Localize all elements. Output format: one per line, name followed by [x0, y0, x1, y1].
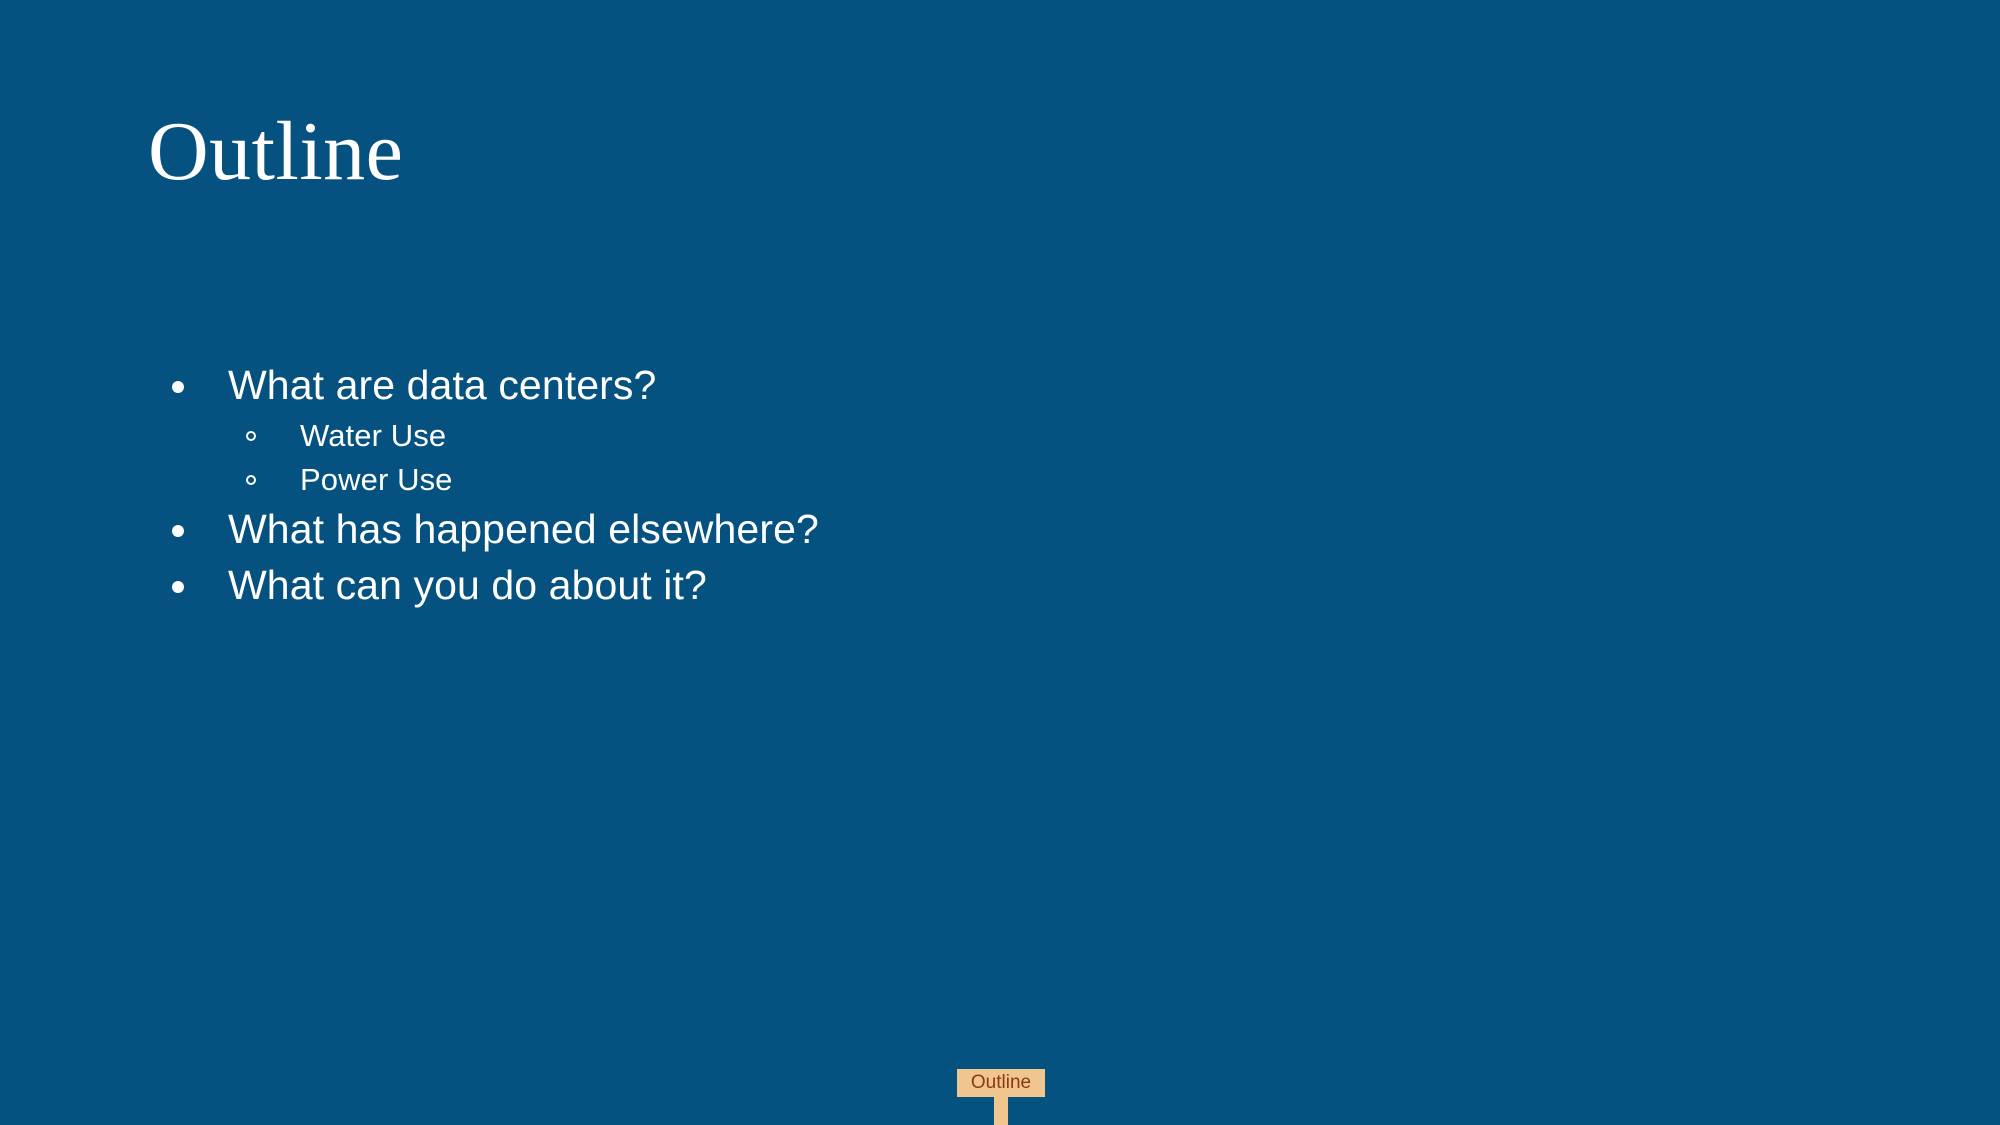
- list-item: What has happened elsewhere?: [150, 502, 1750, 556]
- section-marker-stem: [994, 1097, 1008, 1125]
- list-item-label: What can you do about it?: [228, 558, 707, 612]
- section-marker-label[interactable]: Outline: [957, 1069, 1045, 1097]
- list-item-label: What are data centers?: [228, 358, 656, 412]
- outline-bullet-list: What are data centers? Water Use Power U…: [150, 358, 1750, 614]
- section-marker[interactable]: Outline: [957, 1069, 1047, 1125]
- page-title: Outline: [148, 110, 403, 194]
- list-item: What are data centers?: [150, 358, 1750, 412]
- list-item: Power Use: [150, 458, 1750, 501]
- list-item-label: Power Use: [300, 458, 453, 501]
- list-item: Water Use: [150, 414, 1750, 457]
- list-item: What can you do about it?: [150, 558, 1750, 612]
- slide-canvas: Outline What are data centers? Water Use…: [0, 0, 2000, 1125]
- list-item-label: Water Use: [300, 414, 446, 457]
- list-item-label: What has happened elsewhere?: [228, 502, 819, 556]
